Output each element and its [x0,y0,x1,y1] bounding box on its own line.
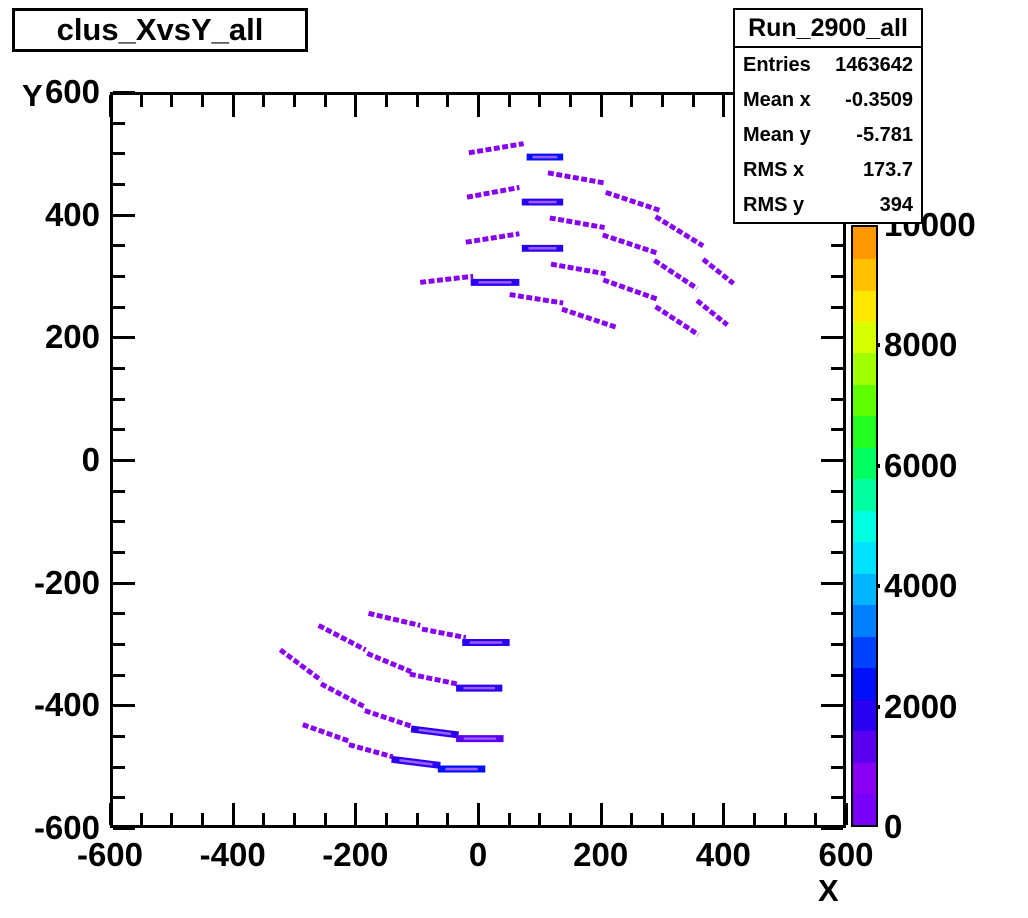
cluster-strip-segment [510,295,564,304]
cluster-strip-segment [654,260,697,288]
palette-color-band [853,542,876,574]
palette-color-band [853,416,876,448]
stats-row-value: 1463642 [835,54,913,77]
palette-color-band [853,699,876,731]
stats-row-key: Mean y [743,124,811,147]
cluster-strip-segment [420,276,473,282]
palette-tick-label: 6000 [884,447,957,485]
cluster-strip-segment [562,309,617,327]
cluster-strip-segment [367,653,411,671]
y-axis-tick-label: -200 [0,564,100,602]
cluster-strip-segment [466,234,520,243]
stats-header: Run_2900_all [735,10,921,48]
palette-color-band [853,731,876,763]
palette-color-band [853,290,876,322]
cluster-strip-segment [603,280,658,299]
stats-row-key: Entries [743,54,811,77]
cluster-strip-segment [548,173,606,183]
cluster-strip-segment [551,264,606,274]
stats-row-value: -0.3509 [845,89,913,112]
y-axis-title: Y [22,78,43,114]
x-axis-tick-label: 0 [469,836,487,874]
cluster-strip-segment [467,187,519,197]
cluster-strip-segment [303,725,349,741]
stats-row-value: -5.781 [856,124,913,147]
palette-tick-label: 8000 [884,326,957,364]
x-axis-tick-label: 400 [696,836,751,874]
y-axis-tick-label: -400 [0,686,100,724]
data-series-upper-sector-segments [420,144,733,335]
cluster-strip-segment [280,650,321,680]
x-axis-tick-label: 200 [573,836,628,874]
cluster-strip-segment [365,711,412,727]
palette-color-band [853,573,876,605]
palette-tick-label: 0 [884,808,902,846]
color-palette-bar [851,225,878,827]
x-axis-tick-label: -600 [77,836,143,874]
palette-color-band [853,510,876,542]
stats-row: Entries1463642 [735,48,921,83]
palette-tick-label: 4000 [884,567,957,605]
y-axis-tick-label: 600 [0,73,100,111]
stats-row-key: RMS x [743,159,804,182]
cluster-strip-segment [703,259,733,283]
stats-rows: Entries1463642Mean x-0.3509Mean y-5.781R… [735,48,921,223]
cluster-strip-segment [349,745,393,757]
stats-row-key: Mean x [743,89,811,112]
palette-color-band [853,636,876,668]
palette-color-band [853,605,876,637]
y-axis-tick-label: 0 [0,441,100,479]
cluster-strip-segment [550,218,605,228]
cluster-strip-segment [606,192,661,210]
x-axis-tick-label: -400 [200,836,266,874]
palette-color-band [853,384,876,416]
stats-row-key: RMS y [743,194,804,217]
stats-row-value: 394 [880,194,913,217]
x-axis-tick-label: 600 [818,836,873,874]
cluster-strip-segment [656,307,699,335]
plot-title-box: clus_XvsY_all [12,8,308,52]
data-series-lower-sector-segments [280,613,509,769]
palette-color-band [853,227,876,259]
x-axis-tick-label: -200 [322,836,388,874]
cluster-strip-segment [369,613,421,625]
y-axis-tick-label: 200 [0,318,100,356]
cluster-strip-segment [469,144,524,153]
plot-title-text: clus_XvsY_all [57,12,264,48]
palette-color-band [853,479,876,511]
y-axis-tick-label: -600 [0,809,100,847]
stats-row: Mean y-5.781 [735,118,921,153]
cluster-strip-segment [697,301,727,325]
cluster-strip-segment [656,217,703,246]
cluster-strip-segment [410,674,457,684]
palette-color-band [853,668,876,700]
palette-color-band [853,794,876,826]
palette-color-band [853,321,876,353]
palette-color-band [853,447,876,479]
stats-row-value: 173.7 [863,159,913,182]
palette-tick-label: 2000 [884,688,957,726]
palette-color-band [853,258,876,290]
cluster-strip-segment [319,625,366,649]
stats-row: RMS x173.7 [735,153,921,188]
palette-color-band [853,353,876,385]
stats-row: Mean x-0.3509 [735,83,921,118]
statistics-box: Run_2900_all Entries1463642Mean x-0.3509… [733,8,923,224]
root-canvas: clus_XvsY_all -600-400-2000200400600-600… [0,0,1028,918]
cluster-strip-segment [603,235,658,253]
stats-row: RMS y394 [735,188,921,223]
cluster-strip-segment [422,629,466,638]
palette-color-band [853,762,876,794]
x-axis-title: X [818,873,839,909]
cluster-strip-segment [321,684,364,707]
y-axis-tick-label: 400 [0,196,100,234]
